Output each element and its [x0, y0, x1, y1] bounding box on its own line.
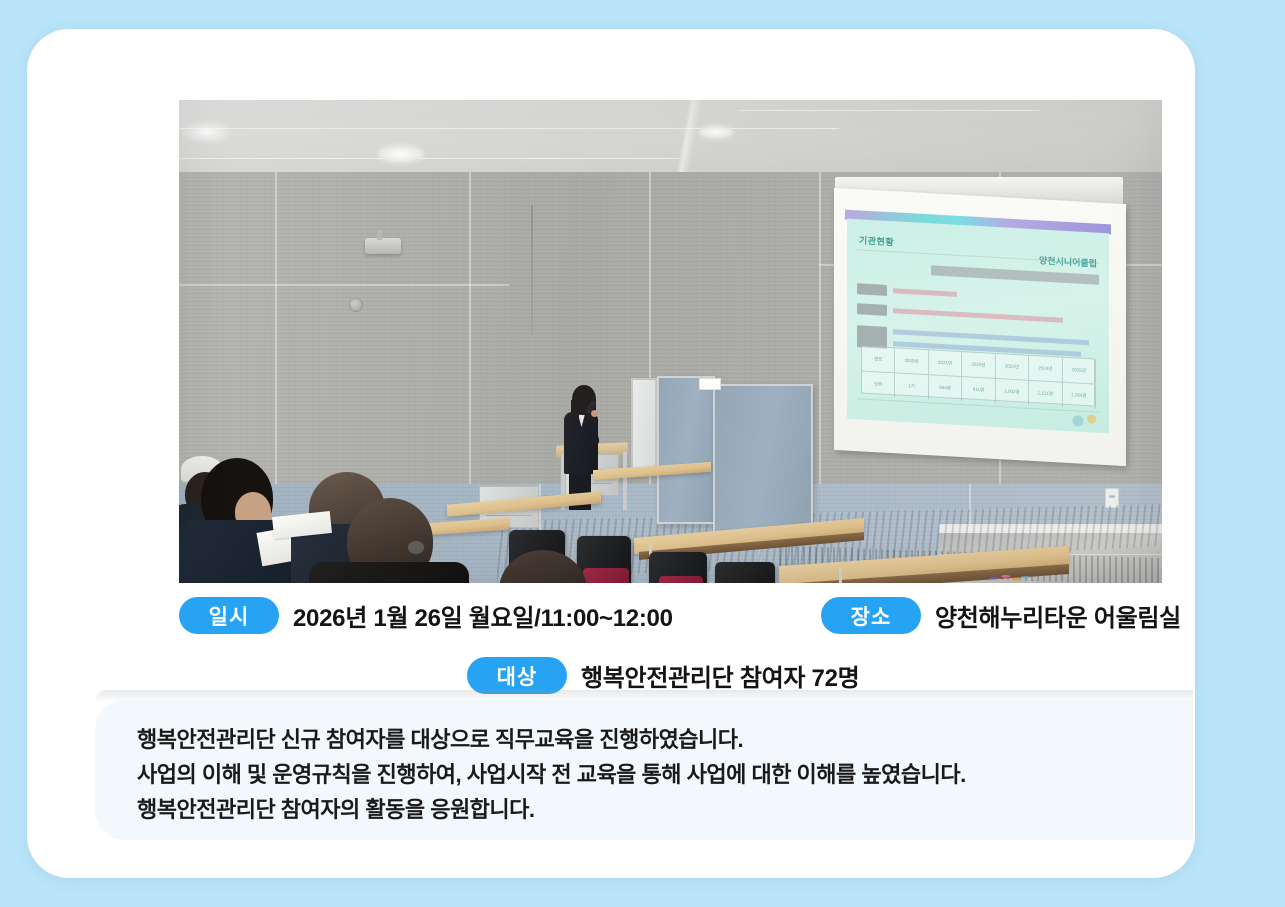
description-panel: 행복안전관리단 신규 참여자를 대상으로 직무교육을 진행하였습니다. 사업의 …: [95, 700, 1193, 840]
event-info: 일시 2026년 1월 26일 월요일/11:00~12:00 장소 양천해누리…: [179, 595, 1175, 697]
value-audience: 행복안전관리단 참여자 72명: [581, 658, 859, 693]
badge-datetime: 일시: [179, 597, 279, 634]
photo-vignette: [179, 100, 1162, 583]
value-datetime: 2026년 1월 26일 월요일/11:00~12:00: [293, 598, 673, 633]
description-line-1: 행복안전관리단 신규 참여자를 대상으로 직무교육을 진행하였습니다.: [137, 722, 966, 757]
badge-audience: 대상: [467, 657, 567, 694]
value-location: 양천해누리타운 어울림실: [935, 598, 1181, 633]
description-line-2: 사업의 이해 및 운영규칙을 진행하여, 사업시작 전 교육을 통해 사업에 대…: [137, 757, 966, 792]
page-root: 기관현황 양천시니어클럽 연도2020년2021년2022년2023년2024년…: [0, 0, 1285, 907]
info-row-datetime: 일시 2026년 1월 26일 월요일/11:00~12:00 장소 양천해누리…: [179, 595, 1175, 641]
info-row-audience: 대상 행복안전관리단 참여자 72명: [179, 641, 1175, 697]
description-line-3: 행복안전관리단 참여자의 활동을 응원합니다.: [137, 792, 966, 827]
event-photo: 기관현황 양천시니어클럽 연도2020년2021년2022년2023년2024년…: [179, 100, 1162, 583]
badge-location: 장소: [821, 597, 921, 634]
info-row-location: 장소 양천해누리타운 어울림실: [821, 597, 1181, 634]
